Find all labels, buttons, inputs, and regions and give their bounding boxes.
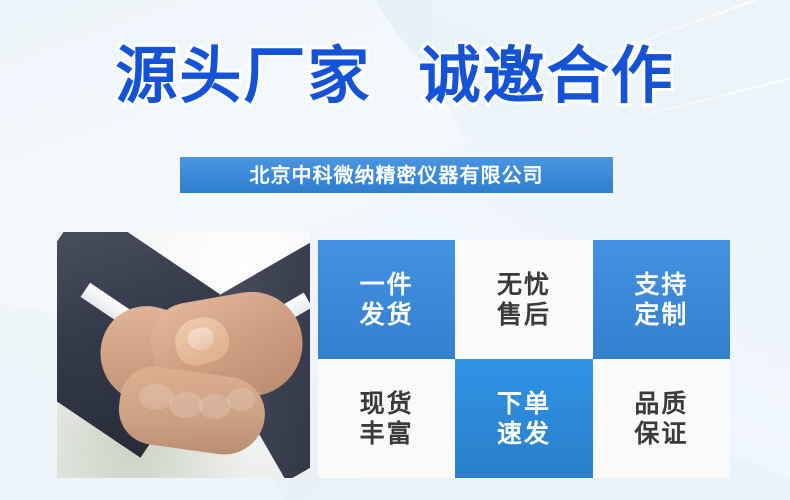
feature-line-2: 速发 bbox=[497, 419, 551, 449]
background-arc-upper bbox=[430, 0, 790, 240]
knuckle-highlight bbox=[169, 392, 203, 418]
feature-line-1: 现货 bbox=[360, 389, 414, 419]
knuckle-highlight bbox=[227, 388, 255, 411]
feature-line-1: 品质 bbox=[634, 389, 688, 419]
feature-cell-customization-supported: 支持 定制 bbox=[593, 240, 730, 359]
promo-banner: 源头厂家 诚邀合作 北京中科微纳精密仪器有限公司 一件 发货 无 bbox=[0, 0, 790, 500]
knuckle-highlight bbox=[139, 384, 173, 410]
feature-line-1: 一件 bbox=[360, 270, 414, 300]
feature-line-2: 售后 bbox=[497, 300, 551, 330]
page-title: 源头厂家 诚邀合作 bbox=[0, 38, 790, 114]
photo-backdrop bbox=[57, 232, 310, 478]
feature-line-2: 丰富 bbox=[360, 419, 414, 449]
feature-cell-ample-stock: 现货 丰富 bbox=[318, 359, 455, 478]
feature-line-1: 支持 bbox=[634, 270, 688, 300]
feature-line-1: 下单 bbox=[497, 389, 551, 419]
feature-line-2: 保证 bbox=[634, 419, 688, 449]
feature-line-2: 定制 bbox=[634, 300, 688, 330]
feature-line-2: 发货 bbox=[360, 300, 414, 330]
company-name-label: 北京中科微纳精密仪器有限公司 bbox=[250, 165, 544, 185]
feature-cell-fast-dispatch: 下单 速发 bbox=[455, 359, 592, 478]
feature-grid: 一件 发货 无忧 售后 支持 定制 现货 丰富 下单 速发 品质 保证 bbox=[318, 240, 730, 478]
feature-cell-one-piece-shipping: 一件 发货 bbox=[318, 240, 455, 359]
company-name-bar: 北京中科微纳精密仪器有限公司 bbox=[180, 157, 613, 193]
background-ray-line bbox=[470, 0, 767, 42]
feature-cell-quality-guarantee: 品质 保证 bbox=[593, 359, 730, 478]
handshake-photo bbox=[57, 232, 310, 478]
feature-cell-worry-free-after-sales: 无忧 售后 bbox=[455, 240, 592, 359]
feature-line-1: 无忧 bbox=[497, 270, 551, 300]
